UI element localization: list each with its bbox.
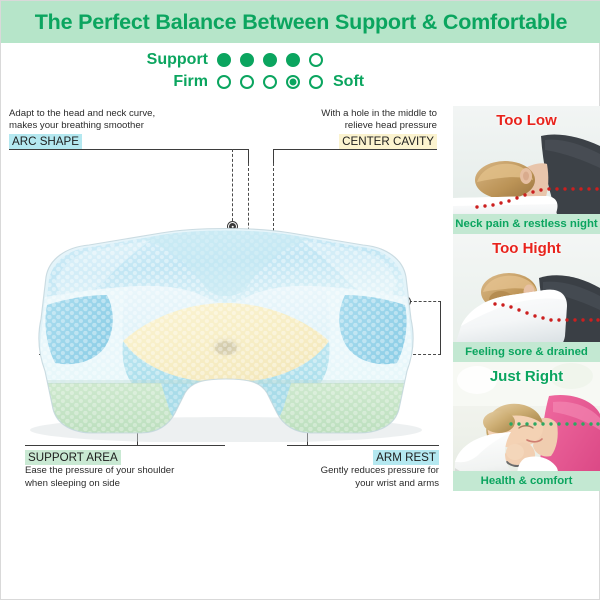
firmness-rating-suffix: Soft <box>333 73 364 91</box>
callout-support-area-tag: SUPPORT AREA <box>25 450 121 465</box>
panel-too-high-title: Too Hight <box>453 240 600 257</box>
rating-dot <box>240 75 254 89</box>
firmness-rating-label: Firm <box>1 73 217 91</box>
callout-center-cavity-tag: CENTER CAVITY <box>339 134 437 149</box>
rating-dot-selected <box>286 75 300 89</box>
posture-comparison-panels: Too Low Neck pain & restless night <box>453 106 600 491</box>
callout-arc-shape: Adapt to the head and neck curve, makes … <box>9 108 209 149</box>
panel-just-right-caption: Health & comfort <box>453 471 600 491</box>
callout-arm-rest-tag: ARM REST <box>373 450 439 465</box>
callout-arc-shape-tag: ARC SHAPE <box>9 134 82 149</box>
panel-too-low: Too Low Neck pain & restless night <box>453 106 600 234</box>
panel-too-low-caption: Neck pain & restless night <box>453 214 600 234</box>
callout-arm-rest-description: Gently reduces pressure for your wrist a… <box>269 465 439 490</box>
rating-section: Support Firm Soft <box>1 47 453 95</box>
header-banner: The Perfect Balance Between Support & Co… <box>1 1 600 43</box>
leader-line-cavity-drop <box>273 149 274 163</box>
panel-too-high-caption: Feeling sore & drained <box>453 342 600 362</box>
callout-center-cavity: With a hole in the middle to relieve hea… <box>259 108 437 149</box>
leader-line-cavity-horizontal <box>273 149 437 150</box>
panel-just-right-title: Just Right <box>453 368 600 385</box>
callout-support-area: SUPPORT AREA Ease the pressure of your s… <box>25 449 235 490</box>
product-pillow-illustration <box>11 187 441 442</box>
support-rating-label: Support <box>1 51 217 69</box>
firmness-rating-row: Firm Soft <box>1 71 453 93</box>
callout-support-area-description: Ease the pressure of your shoulder when … <box>25 465 235 490</box>
callout-arc-shape-description: Adapt to the head and neck curve, makes … <box>9 108 209 133</box>
infographic-page: The Perfect Balance Between Support & Co… <box>0 0 600 600</box>
leader-line-arc-drop <box>248 149 249 163</box>
rating-dot <box>240 53 254 67</box>
panel-just-right: Just Right Health & comfort <box>453 362 600 491</box>
support-rating-dots <box>217 53 323 67</box>
callout-arm-rest: ARM REST Gently reduces pressure for you… <box>269 449 439 490</box>
rating-dot <box>286 53 300 67</box>
panel-too-high: Too Hight Feeling sore & drained <box>453 234 600 362</box>
rating-dot <box>309 53 323 67</box>
leader-line-support-horizontal <box>25 445 225 446</box>
rating-dot <box>217 53 231 67</box>
page-title: The Perfect Balance Between Support & Co… <box>35 10 568 35</box>
panel-too-low-title: Too Low <box>453 112 600 129</box>
callout-center-cavity-description: With a hole in the middle to relieve hea… <box>259 108 437 133</box>
rating-dot <box>217 75 231 89</box>
leader-line-arc-horizontal <box>9 149 249 150</box>
leader-line-arm-horizontal <box>287 445 439 446</box>
rating-dot <box>263 75 277 89</box>
rating-dot <box>309 75 323 89</box>
support-rating-row: Support <box>1 49 453 71</box>
rating-dot <box>263 53 277 67</box>
firmness-rating-dots <box>217 75 323 89</box>
